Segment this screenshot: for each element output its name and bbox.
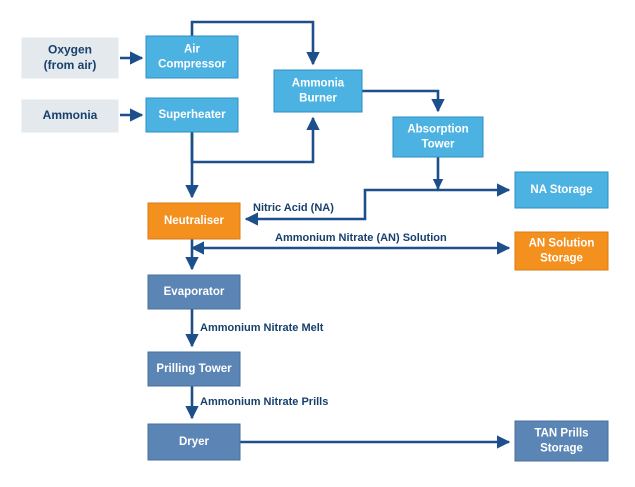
node-label-na-storage: NA Storage bbox=[530, 184, 592, 196]
node-tan-prills-storage[interactable]: TAN PrillsStorage bbox=[515, 421, 608, 461]
node-prilling-tower[interactable]: Prilling Tower bbox=[148, 352, 240, 386]
node-label-an-solution-storage: AN Solution bbox=[529, 238, 595, 250]
node-box-ammonia-burner bbox=[274, 70, 362, 112]
process-flow-diagram: Oxygen(from air)AmmoniaAirCompressorSupe… bbox=[0, 0, 635, 487]
node-absorption-tower[interactable]: AbsorptionTower bbox=[393, 117, 483, 157]
node-label-air-compressor: Compressor bbox=[158, 59, 226, 71]
arrowhead-absorption-to-na-storage bbox=[433, 179, 443, 190]
node-ammonia-burner[interactable]: AmmoniaBurner bbox=[274, 70, 362, 112]
node-dryer[interactable]: Dryer bbox=[148, 424, 240, 460]
edge-label-label-an-prills: Ammonium Nitrate Prills bbox=[200, 396, 328, 408]
node-neutraliser[interactable]: Neutraliser bbox=[148, 203, 240, 239]
node-label-tan-prills-storage: TAN Prills bbox=[534, 428, 588, 440]
edge-label-label-an-solution: Ammonium Nitrate (AN) Solution bbox=[275, 232, 447, 244]
node-label-an-solution-storage: Storage bbox=[540, 253, 583, 265]
node-label-neutraliser: Neutraliser bbox=[164, 215, 225, 227]
node-label-ammonia-burner: Ammonia bbox=[292, 78, 345, 90]
flow-diagram-canvas: Oxygen(from air)AmmoniaAirCompressorSupe… bbox=[0, 0, 635, 487]
node-label-oxygen: Oxygen bbox=[48, 42, 92, 56]
node-label-air-compressor: Air bbox=[184, 44, 201, 56]
node-label-absorption-tower: Absorption bbox=[407, 124, 468, 136]
extra-arrowheads-layer bbox=[433, 179, 443, 190]
edge-label-label-an-melt: Ammonium Nitrate Melt bbox=[200, 322, 324, 334]
node-oxygen[interactable]: Oxygen(from air) bbox=[22, 38, 118, 78]
node-superheater[interactable]: Superheater bbox=[146, 98, 238, 132]
node-label-tan-prills-storage: Storage bbox=[540, 443, 583, 455]
flow-edge-burner-to-absorption bbox=[362, 91, 438, 111]
edge-label-label-nitric-acid: Nitric Acid (NA) bbox=[253, 202, 334, 214]
node-air-compressor[interactable]: AirCompressor bbox=[146, 36, 238, 78]
node-an-solution-storage[interactable]: AN SolutionStorage bbox=[515, 232, 608, 270]
node-na-storage[interactable]: NA Storage bbox=[515, 172, 608, 208]
node-label-ammonia: Ammonia bbox=[43, 108, 98, 122]
node-evaporator[interactable]: Evaporator bbox=[148, 275, 240, 309]
node-label-oxygen: (from air) bbox=[44, 58, 97, 72]
node-box-air-compressor bbox=[146, 36, 238, 78]
node-label-evaporator: Evaporator bbox=[164, 286, 225, 298]
node-label-superheater: Superheater bbox=[158, 109, 226, 121]
node-label-dryer: Dryer bbox=[179, 436, 210, 448]
node-label-ammonia-burner: Burner bbox=[299, 93, 337, 105]
node-label-absorption-tower: Tower bbox=[421, 139, 455, 151]
node-label-prilling-tower: Prilling Tower bbox=[156, 363, 232, 375]
node-ammonia[interactable]: Ammonia bbox=[22, 100, 118, 132]
flow-edge-absorption-to-na-storage bbox=[438, 157, 509, 190]
